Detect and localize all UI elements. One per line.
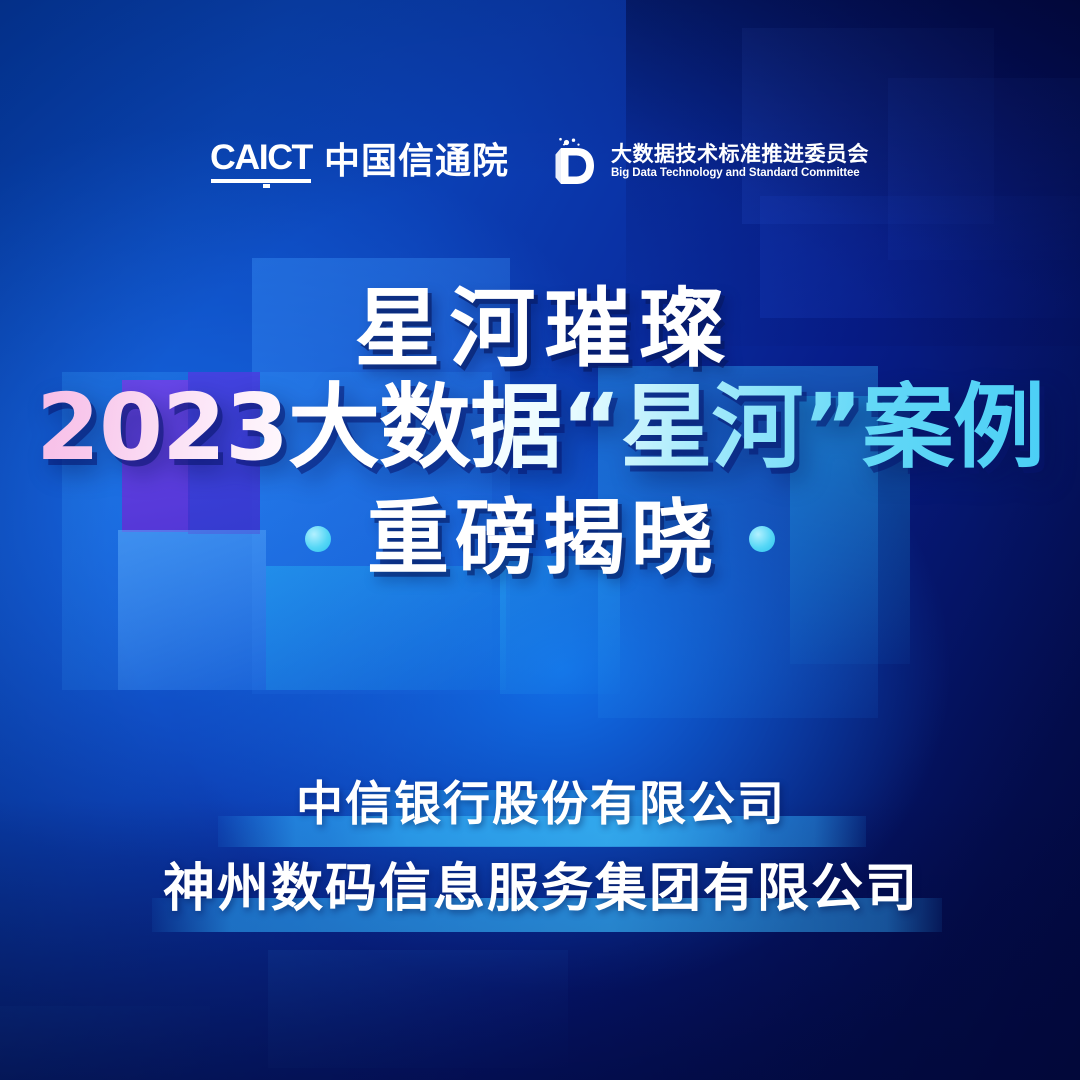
caict-name-cn: 中国信通院 [324, 144, 509, 184]
title-line-1: 星河璀璨 [0, 286, 1080, 372]
company-list: 中信银行股份有限公司 神州数码信息服务集团有限公司 [0, 778, 1080, 919]
bdtsc-name-cn: 大数据技术标准推进委员会 [611, 144, 869, 165]
bdtsc-name-en: Big Data Technology and Standard Committ… [611, 168, 869, 180]
caict-underline-rule [211, 179, 311, 183]
bdtsc-logo: 大数据技术标准推进委员会 Big Data Technology and Sta… [553, 136, 869, 188]
bullet-dot-left-icon [305, 526, 331, 552]
bullet-dot-right-icon [749, 526, 775, 552]
title-group: 星河璀璨 2023大数据“星河”案例 重磅揭晓 [0, 286, 1080, 580]
title-line-2: 2023大数据“星河”案例 [0, 380, 1080, 476]
poster-canvas: CAICT 中国信通院 大数据技术标准推进委员会 Big Data T [0, 0, 1080, 1080]
company-name-2: 神州数码信息服务集团有限公司 [0, 860, 1080, 919]
caict-logo-icon: CAICT [211, 140, 311, 184]
title-line-3-row: 重磅揭晓 [0, 498, 1080, 580]
header-logo-row: CAICT 中国信通院 大数据技术标准推进委员会 Big Data T [0, 136, 1080, 188]
company-name-1: 中信银行股份有限公司 [0, 778, 1080, 832]
bdtsc-text-block: 大数据技术标准推进委员会 Big Data Technology and Sta… [611, 144, 869, 180]
caict-wordmark: CAICT [210, 140, 312, 175]
bdtsc-d-logo-icon [553, 136, 599, 188]
title-line-3: 重磅揭晓 [361, 498, 719, 580]
caict-logo: CAICT 中国信通院 [211, 140, 509, 184]
